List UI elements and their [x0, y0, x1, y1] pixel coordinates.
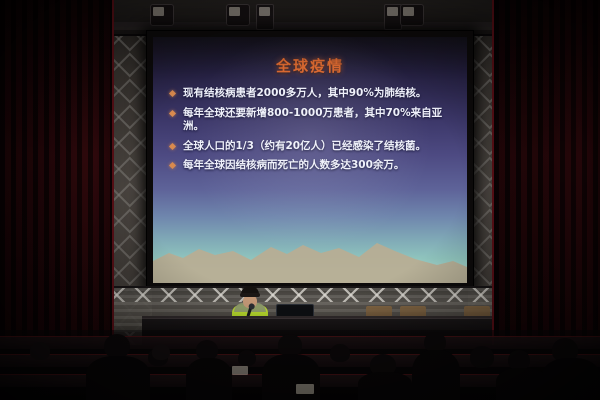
slide-bullet-list: 现有结核病患者2000多万人，其中90%为肺结核。 每年全球还要新增800-10…	[169, 87, 451, 179]
audience-member	[152, 344, 170, 360]
presenter-hat	[241, 286, 259, 297]
slide-bullet: 每年全球因结核病而死亡的人数多达300余万。	[169, 159, 451, 173]
spotlight-icon	[226, 4, 250, 26]
audience-member	[424, 332, 446, 352]
slide-bullet: 现有结核病患者2000多万人，其中90%为肺结核。	[169, 87, 451, 101]
audience-member	[412, 350, 460, 400]
slide-bullet: 全球人口的1/3（约有20亿人）已经感染了结核菌。	[169, 140, 451, 154]
audience-member	[496, 368, 548, 400]
audience-member	[358, 372, 412, 400]
audience-member	[196, 340, 218, 360]
diamond-bullet-icon	[169, 162, 176, 169]
slide-title: 全球疫情	[153, 55, 467, 76]
slide-bullet-text: 全球人口的1/3（约有20亿人）已经感染了结核菌。	[183, 140, 426, 152]
stage-curtain-right	[492, 0, 600, 345]
slide-bullet-text: 每年全球还要新增800-1000万患者，其中70%来自亚洲。	[183, 107, 442, 133]
audience-area	[0, 330, 600, 400]
handout-paper	[232, 366, 248, 375]
audience-member	[470, 346, 494, 368]
mountain-silhouette-icon	[153, 227, 467, 283]
diamond-bullet-icon	[169, 142, 176, 149]
diamond-bullet-icon	[169, 90, 176, 97]
spotlight-icon	[150, 4, 174, 26]
slide-bullet: 每年全球还要新增800-1000万患者，其中70%来自亚洲。	[169, 107, 451, 134]
audience-member	[508, 350, 530, 370]
audience-member	[30, 342, 50, 360]
slide-bullet-text: 现有结核病患者2000多万人，其中90%为肺结核。	[183, 87, 426, 99]
audience-member	[238, 350, 256, 366]
auditorium-scene: 全球疫情 现有结核病患者2000多万人，其中90%为肺结核。 每年全球还要新增8…	[0, 0, 600, 400]
spotlight-icon	[256, 4, 274, 30]
audience-member	[542, 358, 600, 400]
projection-screen: 全球疫情 现有结核病患者2000多万人，其中90%为肺结核。 每年全球还要新增8…	[153, 37, 467, 283]
audience-member	[330, 344, 350, 362]
audience-member	[278, 334, 302, 356]
audience-member	[104, 334, 130, 358]
slide-bullet-text: 每年全球因结核病而死亡的人数多达300余万。	[183, 159, 404, 171]
projection-screen-frame: 全球疫情 现有结核病患者2000多万人，其中90%为肺结核。 每年全球还要新增8…	[146, 30, 474, 290]
stage-curtain-left	[0, 0, 114, 345]
handout-paper	[296, 384, 314, 394]
diamond-bullet-icon	[169, 109, 176, 116]
audience-member	[86, 356, 150, 400]
audience-member	[186, 358, 232, 400]
spotlight-icon	[400, 4, 424, 26]
